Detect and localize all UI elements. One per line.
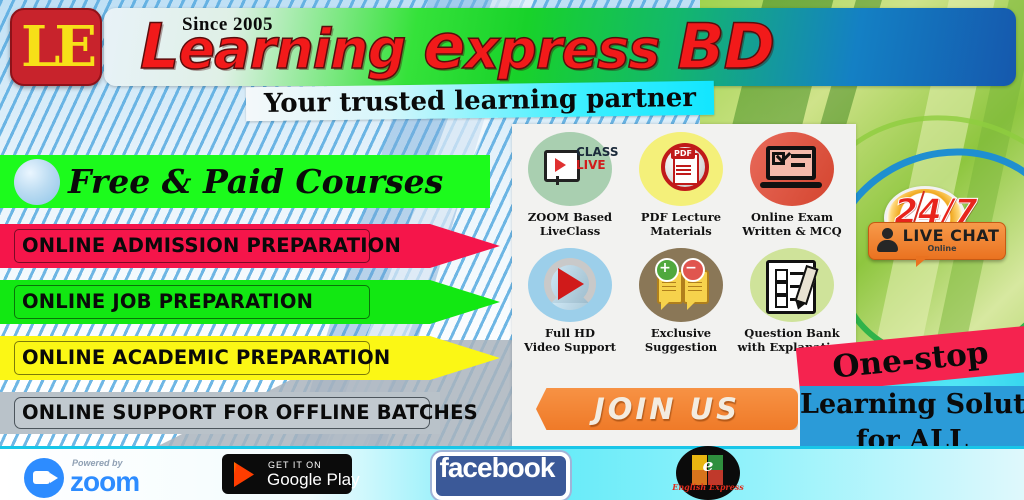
- feature-caption-line2: Materials: [619, 224, 743, 238]
- zoom-wordmark: zoom: [70, 466, 139, 498]
- plus-glyph: +: [657, 260, 673, 276]
- feature-caption-line1: ZOOM Based: [508, 210, 632, 224]
- pdf-document-icon: PDF: [649, 138, 713, 200]
- screen-shape: [544, 150, 580, 182]
- answer-bar-2: [791, 163, 805, 167]
- ee-monogram: e: [699, 456, 717, 476]
- join-us-label: JOIN US: [536, 388, 798, 430]
- company-logo: LE: [10, 8, 102, 86]
- facebook-wordmark: facebook: [432, 452, 562, 492]
- person-icon: [877, 228, 899, 252]
- band-online-admission-preparation[interactable]: ONLINE ADMISSION PREPARATION: [0, 224, 500, 268]
- band-online-job-preparation[interactable]: ONLINE JOB PREPARATION: [0, 280, 500, 324]
- band-label: ONLINE JOB PREPARATION: [22, 280, 313, 324]
- feature-caption: Full HD Video Support: [508, 326, 632, 354]
- band-online-academic-preparation[interactable]: ONLINE ACADEMIC PREPARATION: [0, 336, 500, 380]
- brand-title: LearningexpressBD: [140, 14, 1020, 80]
- live-badge-text: LIVE: [576, 159, 619, 172]
- tagline-text: Your trusted learning partner: [246, 81, 714, 122]
- feature-caption-line2: Video Support: [508, 340, 632, 354]
- feature-caption: Exclusive Suggestion: [619, 326, 743, 354]
- live-chat-status: Online: [902, 243, 982, 255]
- answer-bar-1: [791, 154, 811, 158]
- checklist-box-2: [775, 282, 788, 295]
- courses-bullet-circle: [14, 159, 60, 205]
- brand-title-part-3: e: [423, 10, 464, 83]
- brand-title-part-1: L: [140, 10, 179, 83]
- brand-title-part-5: BD: [677, 10, 774, 83]
- courses-heading-text: Free & Paid Courses: [68, 155, 488, 208]
- feature-caption-line2: Written & MCQ: [730, 224, 854, 238]
- google-play-wordmark: Google Play: [267, 470, 360, 490]
- promotional-banner: LE Since 2005 LearningexpressBD Your tru…: [0, 0, 1024, 500]
- checklist-box-3: [775, 295, 788, 308]
- video-play-icon: [538, 254, 602, 316]
- feature-caption-line1: Full HD: [508, 326, 632, 340]
- person-head: [882, 228, 893, 239]
- class-live-badge: CLASS LIVE: [576, 146, 619, 172]
- pdf-label: PDF: [671, 148, 695, 159]
- class-live-icon: CLASS LIVE: [538, 138, 602, 200]
- band-label: ONLINE ADMISSION PREPARATION: [22, 224, 401, 268]
- checklist-box-1: [775, 269, 788, 282]
- feature-caption: PDF Lecture Materials: [619, 210, 743, 238]
- english-express-name: English Express: [672, 482, 744, 492]
- screen-stand: [556, 176, 559, 185]
- minus-glyph: −: [683, 260, 699, 276]
- feature-caption: Online Exam Written & MCQ: [730, 210, 854, 238]
- person-body: [877, 240, 898, 252]
- zoom-camera-glyph: [33, 471, 50, 484]
- minus-badge-icon: −: [681, 258, 705, 282]
- feature-caption-line1: Online Exam: [730, 210, 854, 224]
- google-play-get-it-on: GET IT ON: [268, 460, 322, 470]
- one-stop-line-1: Learning Solution: [800, 386, 1024, 424]
- feature-caption-line1: PDF Lecture: [619, 210, 743, 224]
- play-triangle: [558, 268, 584, 300]
- band-online-support-offline-batches[interactable]: ONLINE SUPPORT FOR OFFLINE BATCHES: [0, 392, 440, 434]
- pdf-text-lines: [676, 165, 691, 177]
- note-lines: [662, 282, 676, 293]
- brand-title-part-2: earning: [179, 18, 406, 81]
- checkbox-glyph: [772, 152, 785, 165]
- sticky-notes-icon: + −: [649, 254, 713, 316]
- chat-bubble-tail: [916, 256, 929, 267]
- feature-caption: ZOOM Based LiveClass: [508, 210, 632, 238]
- feature-caption-line2: LiveClass: [508, 224, 632, 238]
- logo-monogram: LE: [12, 10, 100, 84]
- band-label: ONLINE ACADEMIC PREPARATION: [22, 336, 390, 380]
- laptop-exam-icon: [760, 138, 824, 200]
- note-lines: [688, 282, 702, 293]
- brand-title-part-4: xpress: [464, 18, 659, 81]
- plus-badge-icon: +: [655, 258, 679, 282]
- feature-caption-line1: Exclusive: [619, 326, 743, 340]
- feature-caption-line2: Suggestion: [619, 340, 743, 354]
- laptop-base: [760, 182, 822, 188]
- checklist-pencil-icon: [760, 254, 824, 316]
- feature-caption-line1: Question Bank: [730, 326, 854, 340]
- band-label: ONLINE SUPPORT FOR OFFLINE BATCHES: [22, 392, 478, 434]
